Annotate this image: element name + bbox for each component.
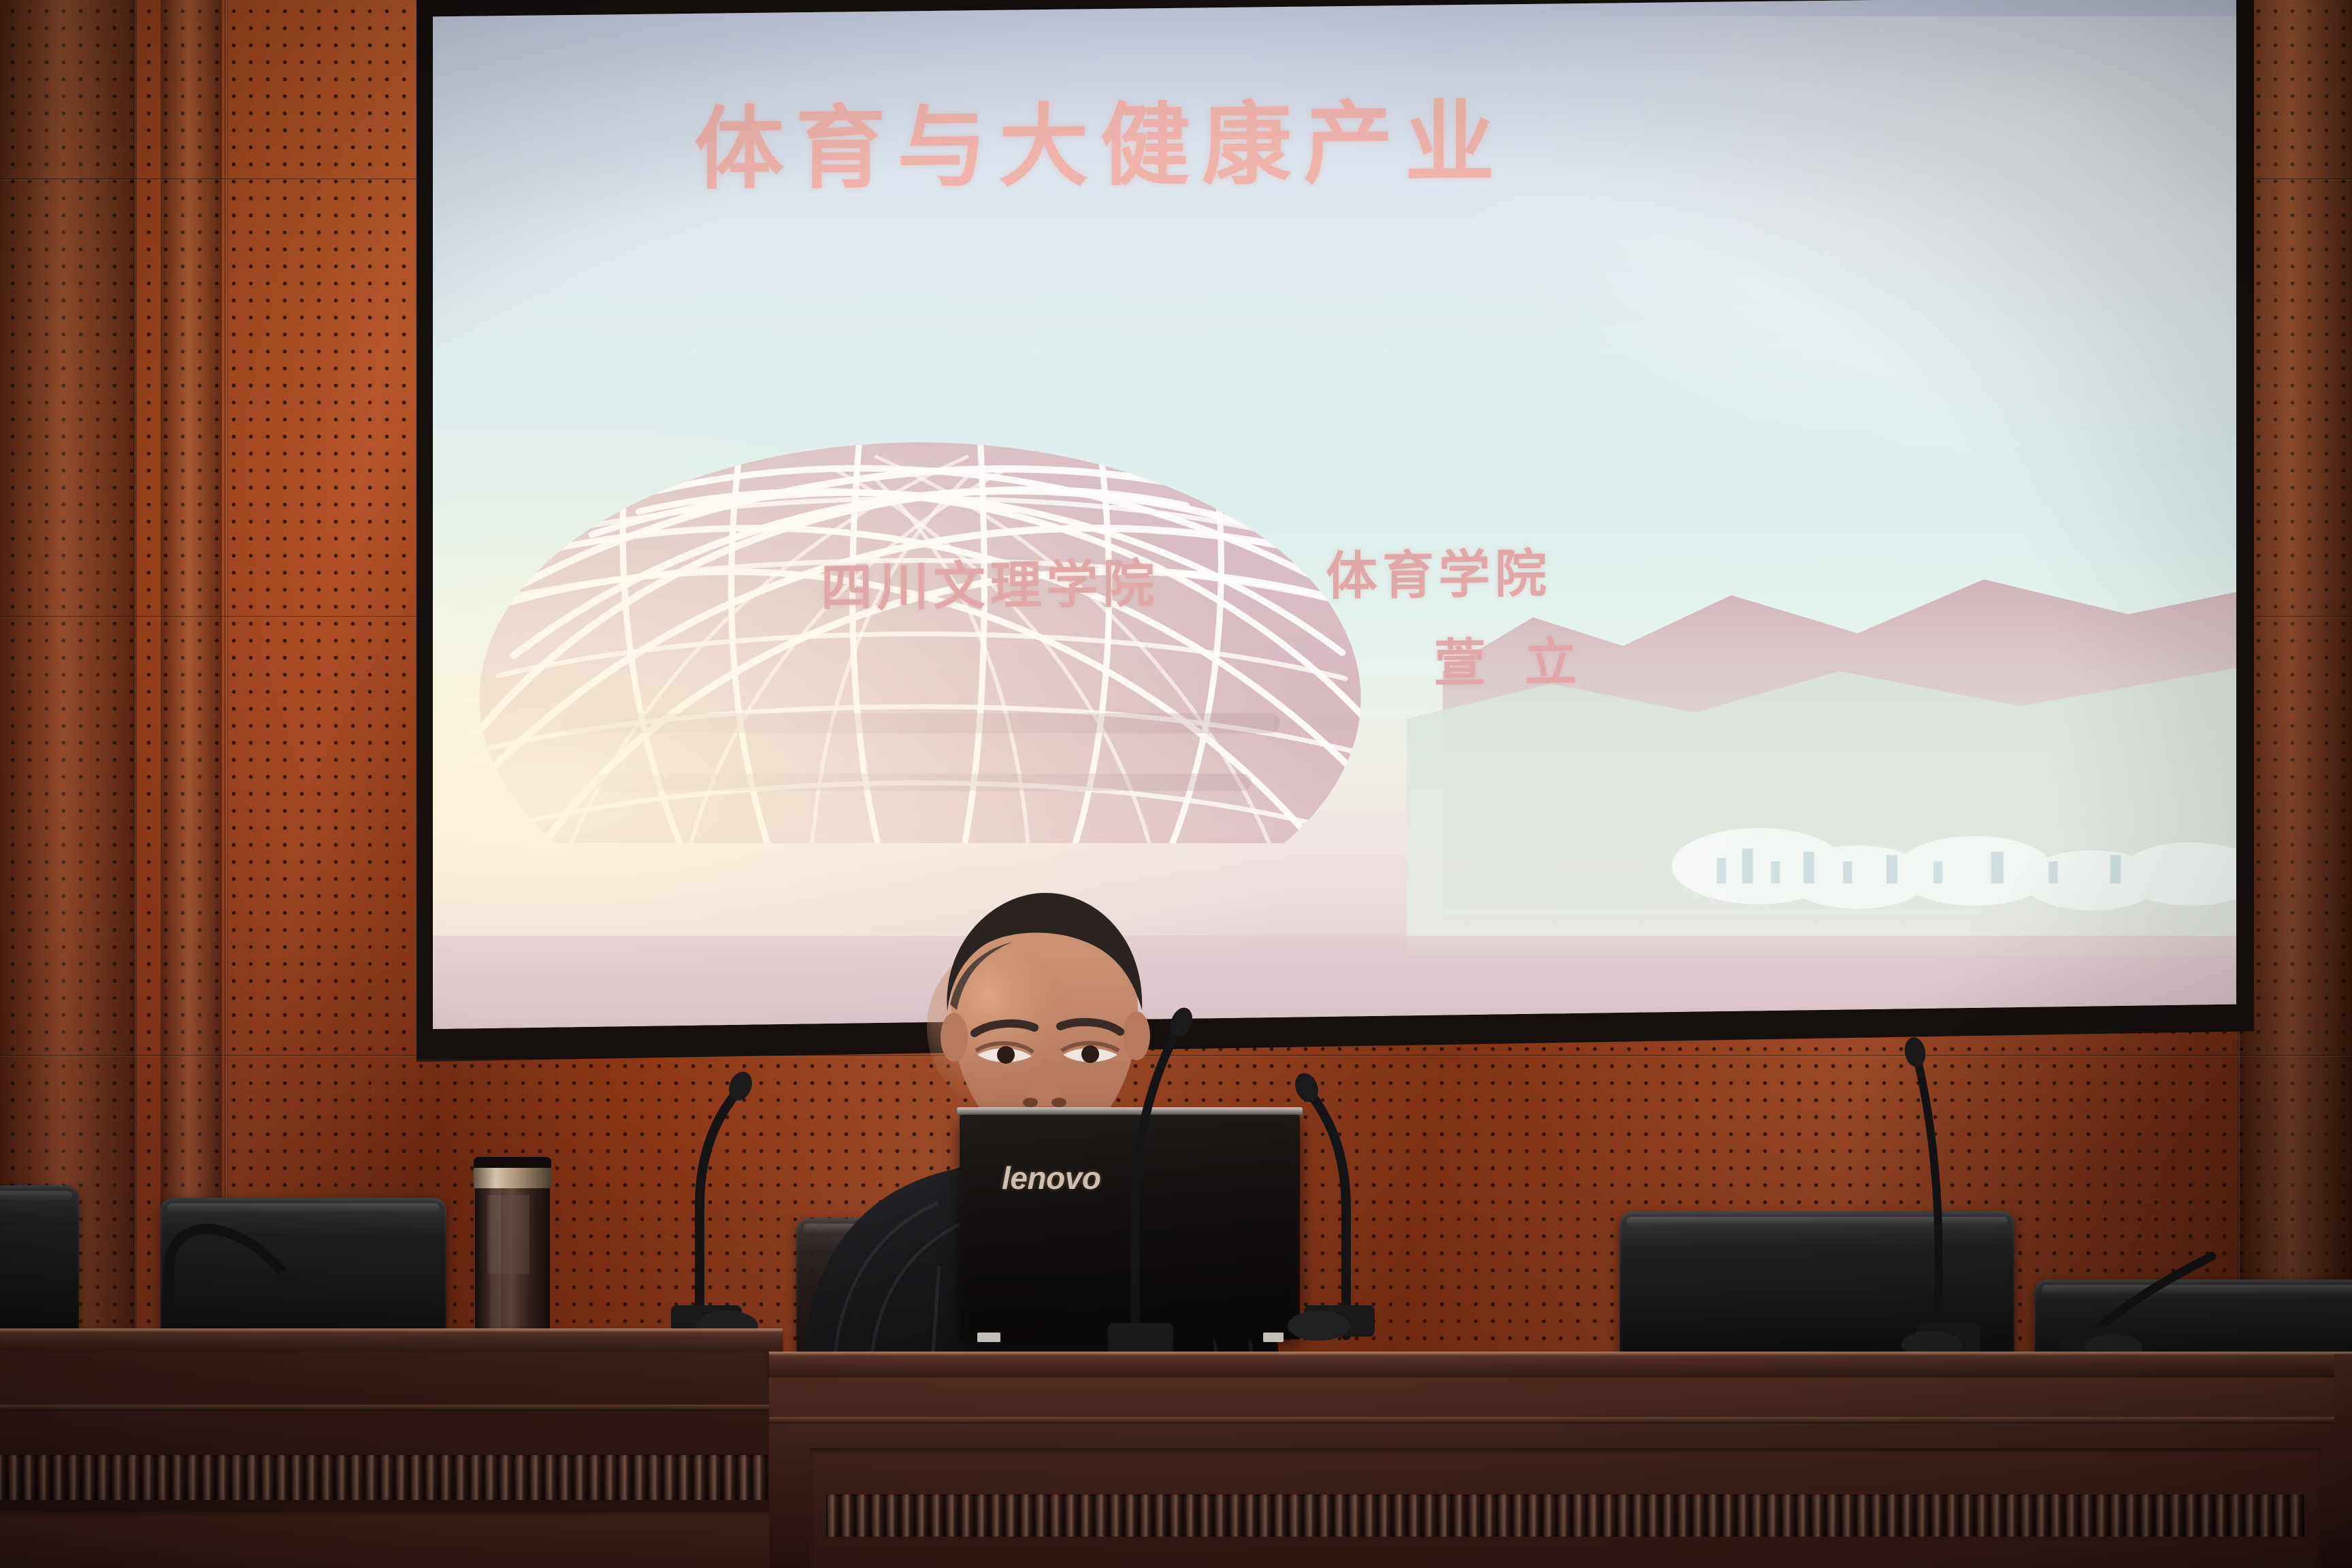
molding-flute (694, 1455, 707, 1500)
projection-screen: 体育与大健康产业 四川文理学院 体育学院 萱 立 (416, 0, 2254, 1062)
slide-highlight (1443, 16, 2236, 471)
molding-flute (827, 1494, 840, 1537)
molding-flute (1588, 1494, 1602, 1537)
thermos-bottle (471, 1150, 554, 1341)
molding-flute (203, 1455, 216, 1500)
molding-flute (2171, 1494, 2185, 1537)
molding-flute (2201, 1494, 2215, 1537)
molding-flute (411, 1455, 424, 1500)
molding-flute (1917, 1494, 1931, 1537)
desk-left-panel (0, 1511, 783, 1568)
molding-flute (1678, 1494, 1692, 1537)
molding-flute (39, 1455, 52, 1500)
slide-presenter-name: 萱 立 (1434, 620, 1589, 697)
mic-right[interactable] (1259, 1063, 1422, 1335)
slide-title: 体育与大健康产业 (694, 70, 1506, 207)
molding-flute (1887, 1494, 1901, 1537)
molding-flute (262, 1455, 275, 1500)
molding-flute (1439, 1494, 1453, 1537)
molding-flute (2111, 1494, 2125, 1537)
molding-flute (1021, 1494, 1034, 1537)
molding-flute (709, 1455, 722, 1500)
molding-flute (113, 1455, 126, 1500)
molding-flute (1365, 1494, 1378, 1537)
molding-flute (1290, 1494, 1303, 1537)
desk-right-face (2334, 1354, 2352, 1568)
molding-flute (1723, 1494, 1737, 1537)
molding-flute (1812, 1494, 1826, 1537)
molding-flute (2006, 1494, 2020, 1537)
molding-flute (1663, 1494, 1677, 1537)
desk-left-molding (0, 1455, 783, 1500)
molding-flute (2260, 1494, 2274, 1537)
molding-flute (441, 1455, 454, 1500)
molding-flute (1872, 1494, 1886, 1537)
molding-flute (1499, 1494, 1512, 1537)
molding-flute (247, 1455, 260, 1500)
molding-flute (471, 1455, 484, 1500)
molding-flute (1902, 1494, 1916, 1537)
molding-flute (9, 1455, 22, 1500)
molding-flute (634, 1455, 647, 1500)
molding-flute (649, 1455, 662, 1500)
molding-flute (2081, 1494, 2095, 1537)
molding-flute (590, 1455, 603, 1500)
molding-flute (1081, 1494, 1094, 1537)
molding-flute (1782, 1494, 1796, 1537)
mic-speaker[interactable] (1075, 1000, 1239, 1354)
molding-flute (173, 1455, 186, 1500)
molding-flute (1752, 1494, 1766, 1537)
molding-flute (1573, 1494, 1587, 1537)
molding-flute (1857, 1494, 1871, 1537)
molding-flute (1797, 1494, 1811, 1537)
molding-flute (1529, 1494, 1542, 1537)
molding-flute (1618, 1494, 1632, 1537)
molding-flute (351, 1455, 364, 1500)
molding-flute (739, 1455, 752, 1500)
molding-flute (1215, 1494, 1229, 1537)
molding-flute (887, 1494, 900, 1537)
molding-flute (292, 1455, 305, 1500)
molding-flute (1156, 1494, 1169, 1537)
molding-flute (143, 1455, 156, 1500)
molding-flute (1096, 1494, 1109, 1537)
molding-flute (679, 1455, 692, 1500)
molding-flute (1200, 1494, 1214, 1537)
molding-flute (1947, 1494, 1961, 1537)
laptop-sticker-left (977, 1333, 1000, 1342)
molding-flute (2231, 1494, 2244, 1537)
slide-affiliation-department: 体育学院 (1326, 532, 1551, 609)
molding-flute (2021, 1494, 2035, 1537)
molding-flute (381, 1455, 394, 1500)
molding-flute (619, 1455, 632, 1500)
molding-flute (1036, 1494, 1049, 1537)
molding-flute (947, 1494, 960, 1537)
molding-flute (1066, 1494, 1079, 1537)
molding-flute (1275, 1494, 1288, 1537)
molding-flute (158, 1455, 171, 1500)
molding-flute (188, 1455, 201, 1500)
molding-flute (530, 1455, 543, 1500)
molding-flute (232, 1455, 245, 1500)
molding-flute (1350, 1494, 1363, 1537)
molding-flute (2126, 1494, 2140, 1537)
molding-flute (664, 1455, 677, 1500)
molding-flute (426, 1455, 439, 1500)
molding-flute (1514, 1494, 1527, 1537)
desk-left (0, 1328, 783, 1568)
molding-flute (0, 1455, 7, 1500)
molding-flute (1409, 1494, 1423, 1537)
molding-flute (1767, 1494, 1781, 1537)
molding-flute (2096, 1494, 2110, 1537)
molding-flute (1394, 1494, 1408, 1537)
molding-flute (1469, 1494, 1483, 1537)
molding-flute (842, 1494, 855, 1537)
molding-flute (2051, 1494, 2065, 1537)
molding-flute (1827, 1494, 1841, 1537)
molding-flute (1126, 1494, 1139, 1537)
desk-left-edge (0, 1328, 783, 1333)
desk-center-molding (826, 1494, 2304, 1537)
molding-flute (456, 1455, 469, 1500)
molding-flute (2216, 1494, 2229, 1537)
lecture-hall-photo: 体育与大健康产业 四川文理学院 体育学院 萱 立 (0, 0, 2352, 1568)
molding-flute (932, 1494, 945, 1537)
molding-flute (1230, 1494, 1244, 1537)
molding-flute (24, 1455, 37, 1500)
molding-flute (1842, 1494, 1856, 1537)
mic-left[interactable] (623, 1063, 780, 1335)
molding-flute (128, 1455, 141, 1500)
molding-flute (917, 1494, 930, 1537)
slide-affiliation-school: 四川文理学院 (821, 541, 1159, 620)
molding-flute (1006, 1494, 1019, 1537)
molding-flute (1648, 1494, 1662, 1537)
molding-flute (2245, 1494, 2259, 1537)
molding-flute (1708, 1494, 1722, 1537)
molding-flute (1603, 1494, 1617, 1537)
molding-flute (1558, 1494, 1572, 1537)
molding-flute (1335, 1494, 1348, 1537)
molding-flute (1962, 1494, 1976, 1537)
molding-flute (857, 1494, 870, 1537)
molding-flute (515, 1455, 528, 1500)
molding-flute (84, 1455, 97, 1500)
molding-flute (872, 1494, 885, 1537)
molding-flute (1454, 1494, 1468, 1537)
molding-flute (992, 1494, 1005, 1537)
molding-flute (2275, 1494, 2289, 1537)
molding-flute (560, 1455, 573, 1500)
molding-flute (54, 1455, 67, 1500)
molding-flute (962, 1494, 975, 1537)
molding-flute (396, 1455, 409, 1500)
molding-flute (322, 1455, 335, 1500)
molding-flute (1379, 1494, 1393, 1537)
molding-flute (605, 1455, 618, 1500)
molding-flute (2141, 1494, 2155, 1537)
molding-flute (545, 1455, 558, 1500)
molding-flute (1932, 1494, 1946, 1537)
molding-flute (366, 1455, 379, 1500)
molding-flute (575, 1455, 588, 1500)
molding-flute (753, 1455, 766, 1500)
molding-flute (2186, 1494, 2200, 1537)
molding-flute (1738, 1494, 1752, 1537)
molding-flute (307, 1455, 320, 1500)
molding-flute (98, 1455, 111, 1500)
molding-flute (218, 1455, 231, 1500)
desk-right-return (2334, 1354, 2352, 1568)
desk-center-bevel (769, 1417, 2352, 1424)
molding-flute (1186, 1494, 1199, 1537)
mic-far-right[interactable] (2048, 1249, 2225, 1365)
molding-flute (69, 1455, 82, 1500)
molding-flute (2036, 1494, 2050, 1537)
molding-flute (1141, 1494, 1154, 1537)
molding-flute (1991, 1494, 2005, 1537)
molding-flute (902, 1494, 915, 1537)
molding-flute (485, 1455, 498, 1500)
molding-flute (1245, 1494, 1259, 1537)
molding-flute (977, 1494, 990, 1537)
molding-flute (337, 1455, 350, 1500)
molding-flute (500, 1455, 513, 1500)
molding-flute (277, 1455, 290, 1500)
molding-flute (2066, 1494, 2080, 1537)
molding-flute (2290, 1494, 2304, 1537)
desk-left-bevel (0, 1405, 783, 1411)
molding-flute (1260, 1494, 1273, 1537)
molding-flute (1051, 1494, 1064, 1537)
molding-flute (1111, 1494, 1124, 1537)
mic-right-tall[interactable] (1837, 1034, 2001, 1354)
desk-center (769, 1352, 2352, 1568)
molding-flute (1305, 1494, 1318, 1537)
molding-flute (1693, 1494, 1707, 1537)
molding-flute (1424, 1494, 1438, 1537)
slide-surface: 体育与大健康产业 四川文理学院 体育学院 萱 立 (433, 0, 2236, 1029)
molding-flute (1977, 1494, 1991, 1537)
desk-center-edge (769, 1352, 2352, 1356)
molding-flute (1633, 1494, 1647, 1537)
molding-flute (1543, 1494, 1557, 1537)
molding-flute (1320, 1494, 1333, 1537)
molding-flute (1484, 1494, 1498, 1537)
molding-flute (724, 1455, 737, 1500)
molding-flute (2156, 1494, 2170, 1537)
molding-flute (1171, 1494, 1184, 1537)
